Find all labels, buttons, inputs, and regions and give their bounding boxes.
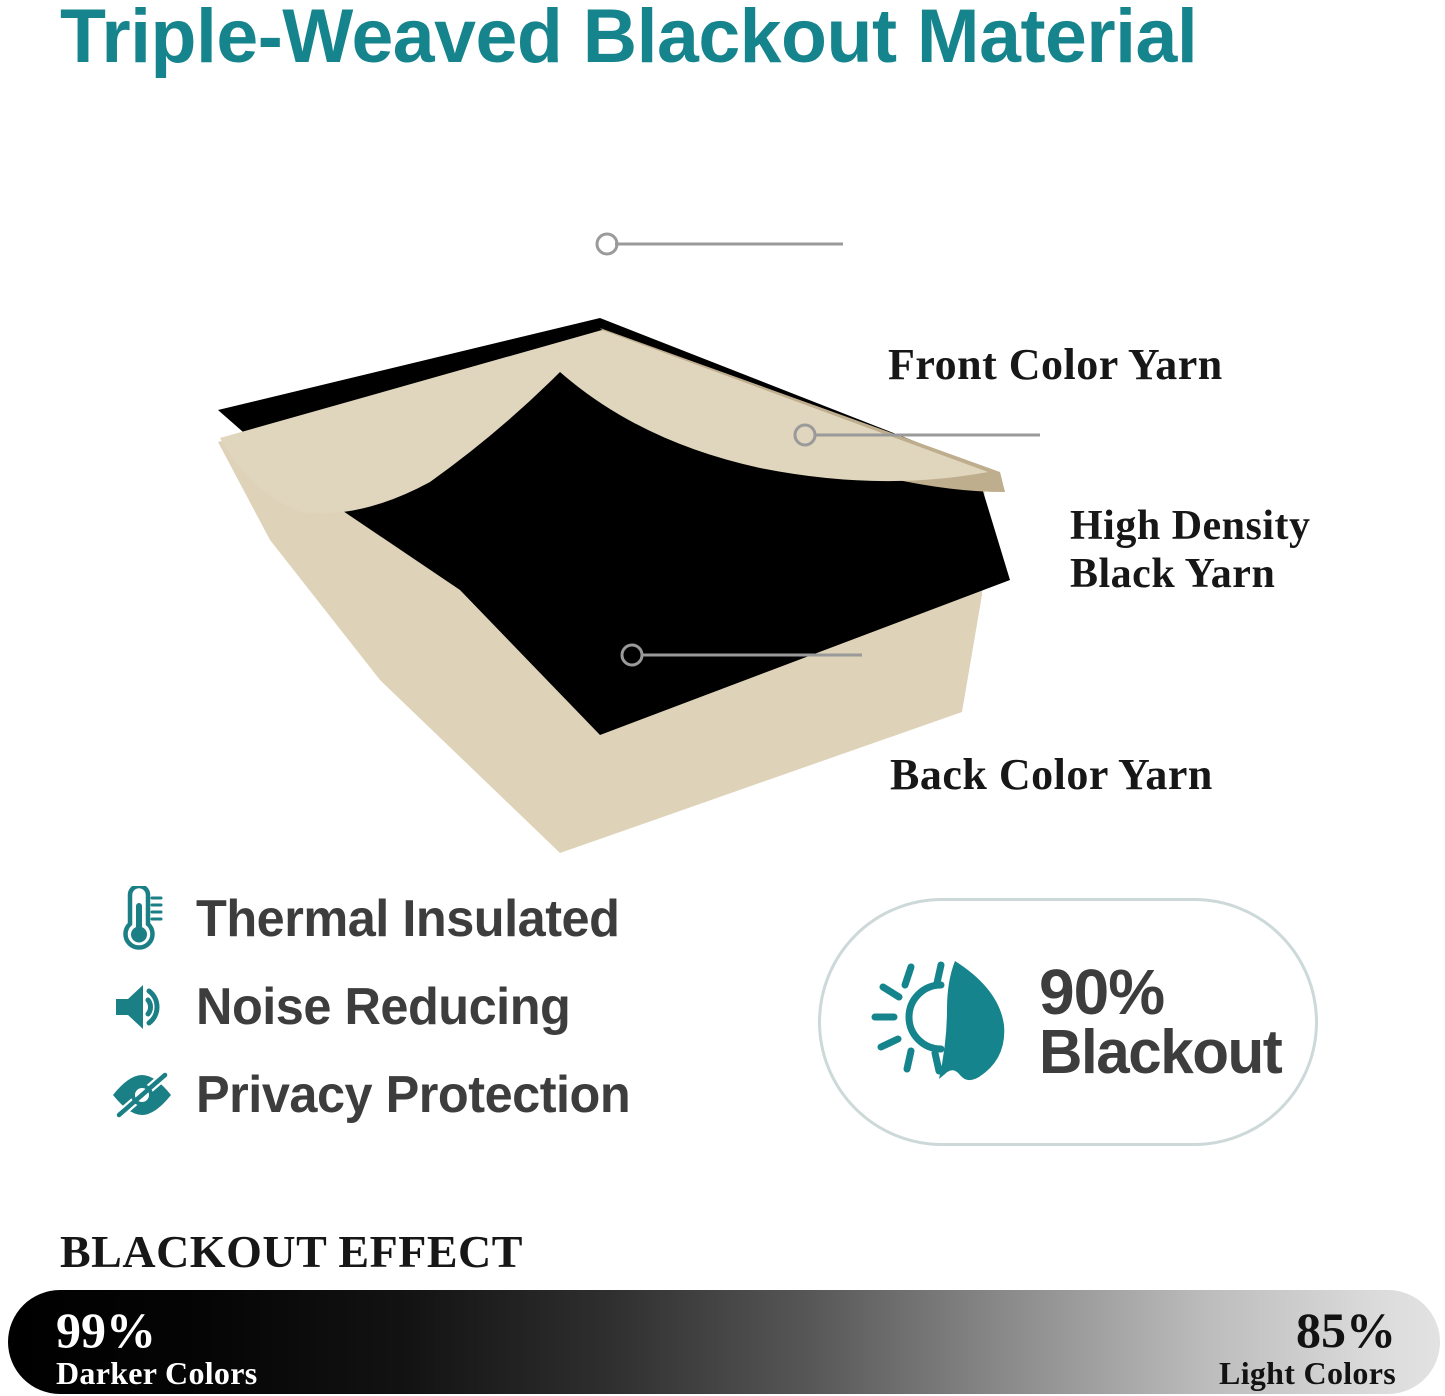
blackout-effect-dark-end: 99% Darker Colors [56, 1304, 258, 1390]
blackout-effect-heading: BLACKOUT EFFECT [60, 1225, 523, 1278]
fabric-layers-diagram: Front Color Yarn High Density Black Yarn… [0, 120, 1445, 860]
callout-label-line-1: High Density [1070, 502, 1311, 550]
feature-label: Noise Reducing [196, 977, 570, 1037]
callout-label-front-color-yarn: Front Color Yarn [888, 338, 1223, 392]
sun-blocked-icon [863, 947, 1023, 1097]
badge-text-block: 90% Blackout [1039, 962, 1289, 1083]
blackout-badge: 90% Blackout [818, 898, 1318, 1146]
feature-list: Thermal Insulated Noise Reducing [104, 875, 744, 1139]
thermometer-icon [104, 883, 180, 955]
feature-item-thermal-insulated: Thermal Insulated [104, 875, 744, 963]
callout-connector-front [597, 234, 843, 254]
dark-end-percent: 99% [56, 1304, 258, 1356]
badge-word: Blackout [1039, 1023, 1281, 1083]
blackout-effect-gradient-bar: 99% Darker Colors 85% Light Colors [8, 1290, 1440, 1394]
light-end-percent: 85% [1219, 1304, 1396, 1356]
blackout-effect-light-end: 85% Light Colors [1219, 1304, 1396, 1390]
eye-slash-icon [104, 1059, 180, 1131]
dark-end-caption: Darker Colors [56, 1356, 258, 1390]
speaker-volume-icon [104, 971, 180, 1043]
callout-label-back-color-yarn: Back Color Yarn [890, 748, 1213, 802]
feature-label: Thermal Insulated [196, 889, 619, 949]
callout-label-line-2: Black Yarn [1070, 550, 1311, 598]
feature-item-noise-reducing: Noise Reducing [104, 963, 744, 1051]
feature-item-privacy-protection: Privacy Protection [104, 1051, 744, 1139]
page-title: Triple-Weaved Blackout Material [60, 0, 1406, 80]
light-end-caption: Light Colors [1219, 1356, 1396, 1390]
callout-label-high-density-black-yarn: High Density Black Yarn [1070, 502, 1311, 598]
badge-percent: 90% [1039, 962, 1289, 1023]
feature-label: Privacy Protection [196, 1065, 630, 1125]
